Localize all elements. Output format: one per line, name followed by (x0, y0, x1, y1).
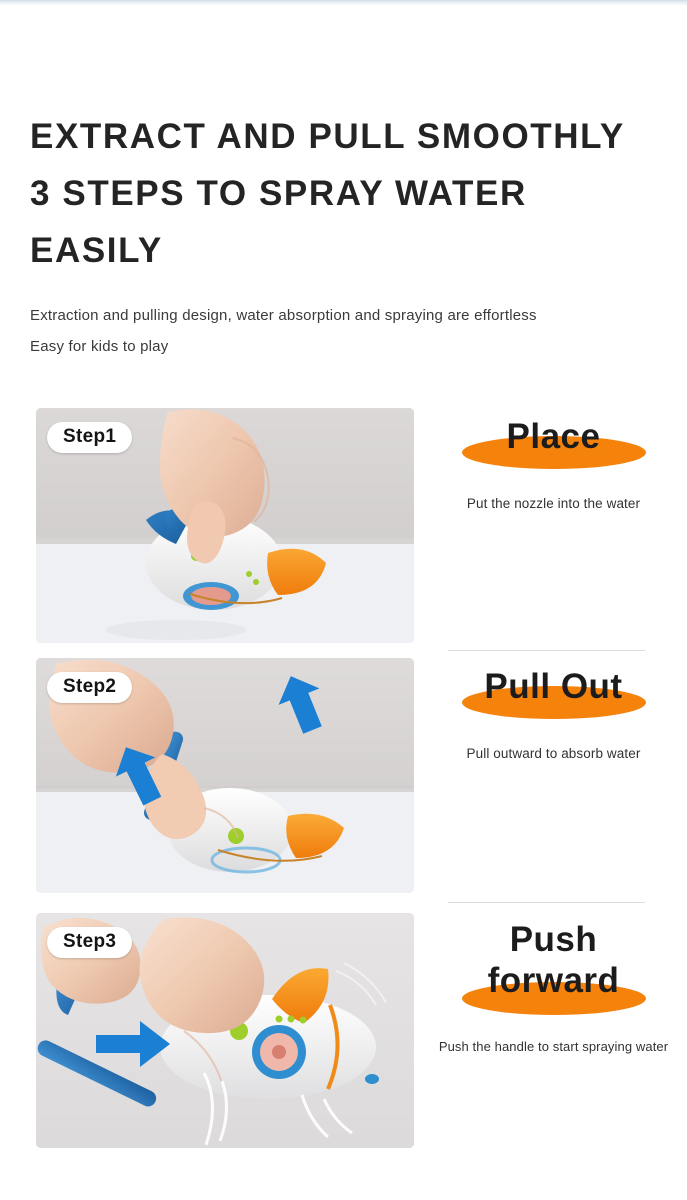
step-2-text: Pull Out Pull outward to absorb water (420, 658, 687, 722)
step-2-caption: Pull outward to absorb water (420, 746, 687, 761)
step-1-text: Place Put the nozzle into the water (420, 408, 687, 472)
page-title: EXTRACT AND PULL SMOOTHLY 3 STEPS TO SPR… (30, 108, 670, 279)
page-subtitle: Extraction and pulling design, water abs… (30, 300, 670, 362)
step-1-photo: Step1 (36, 408, 414, 643)
top-section-seam (0, 0, 687, 5)
step-1-title: Place (420, 408, 687, 457)
step-2-title-group: Pull Out (420, 658, 687, 722)
step-3-text: Push forward Push the handle to start sp… (420, 913, 687, 1023)
step-badge-2: Step2 (47, 672, 132, 703)
step-3-photo: Step3 (36, 913, 414, 1148)
step-badge-1: Step1 (47, 422, 132, 453)
step-3-title-group: Push forward (420, 913, 687, 1023)
section-divider-1 (448, 650, 645, 651)
product-infographic-page: EXTRACT AND PULL SMOOTHLY 3 STEPS TO SPR… (0, 0, 687, 1200)
step-3-title: Push forward (420, 913, 687, 1001)
step-badge-3: Step3 (47, 927, 132, 958)
section-divider-2 (448, 902, 645, 903)
step-1-title-group: Place (420, 408, 687, 472)
step-2-photo: Step2 (36, 658, 414, 893)
step-2-title: Pull Out (420, 658, 687, 707)
step-1-caption: Put the nozzle into the water (420, 496, 687, 511)
step-3-caption: Push the handle to start spraying water (420, 1039, 687, 1054)
